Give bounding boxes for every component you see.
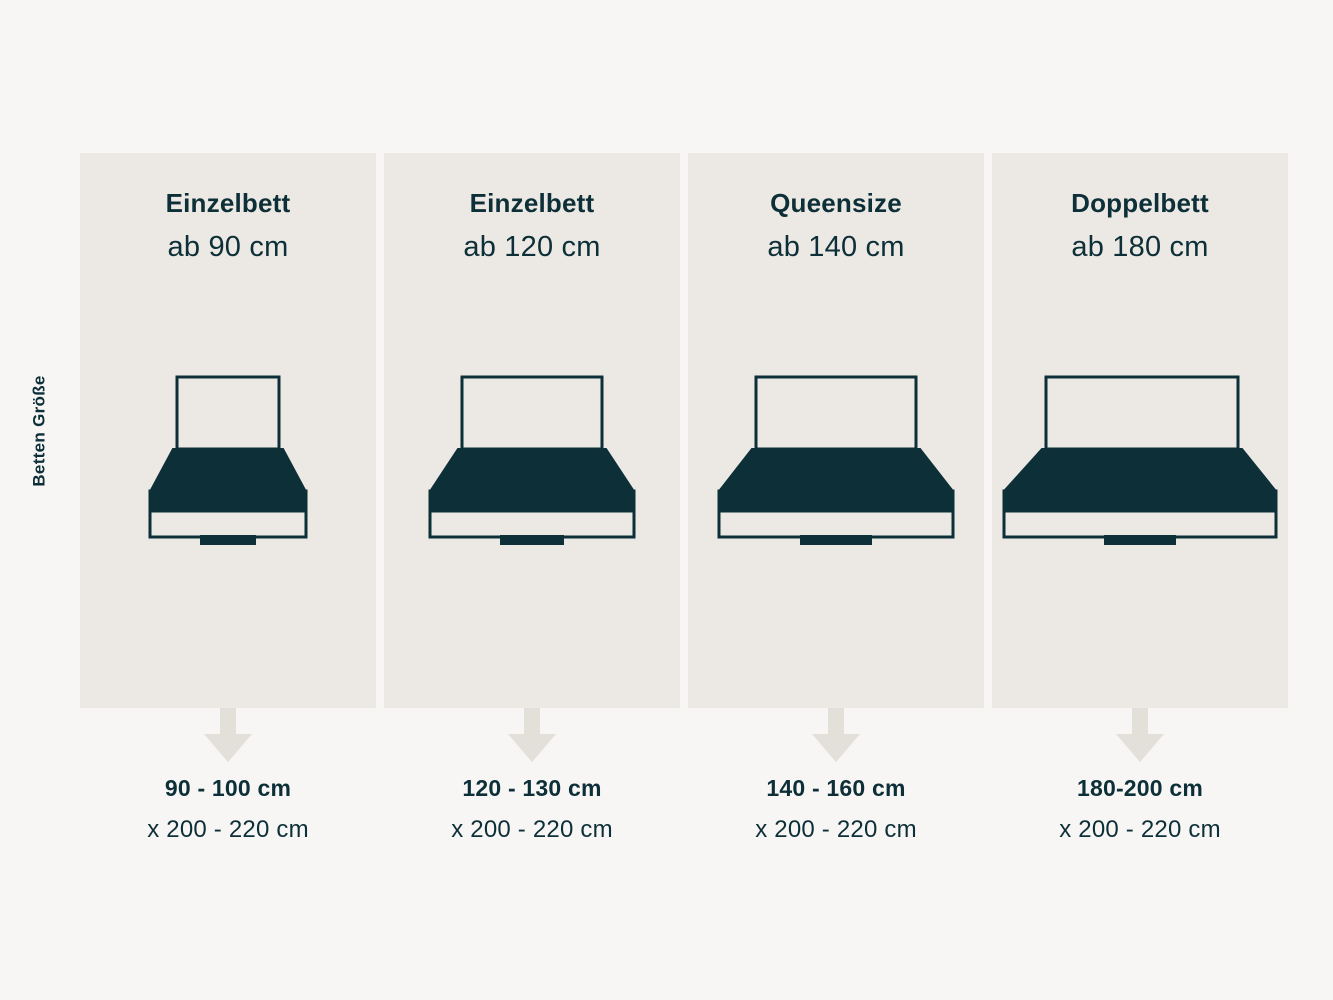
column-subtitle: ab 90 cm [80, 231, 376, 264]
bed-front-icon [717, 375, 955, 545]
dimension-width: 90 - 100 cm [80, 775, 376, 803]
dimension-length: x 200 - 220 cm [688, 816, 984, 845]
dimension-length: x 200 - 220 cm [80, 816, 376, 845]
arrow-row [80, 708, 1288, 764]
dimension-width: 180-200 cm [992, 775, 1288, 803]
bed-size-infographic: Betten Größe Einzelbett ab 90 cm E [0, 0, 1333, 1000]
dimension-label-row: 90 - 100 cm x 200 - 220 cm 120 - 130 cm … [80, 775, 1288, 865]
arrow-down-icon [1112, 708, 1168, 764]
bed-illustration-holder [384, 353, 680, 708]
bed-illustration-holder [80, 353, 376, 708]
column-title: Einzelbett [80, 189, 376, 219]
column-title: Queensize [688, 189, 984, 219]
bed-illustration-holder [992, 353, 1288, 708]
bed-front-icon [428, 375, 636, 545]
column-title: Doppelbett [992, 189, 1288, 219]
size-column-doppelbett-180: Doppelbett ab 180 cm [992, 153, 1288, 708]
bed-front-icon [148, 375, 308, 545]
dimension-length: x 200 - 220 cm [992, 816, 1288, 845]
bed-front-icon [1002, 375, 1278, 545]
size-column-queensize-140: Queensize ab 140 cm [688, 153, 984, 708]
y-axis-label: Betten Größe [30, 375, 50, 486]
size-column-einzelbett-120: Einzelbett ab 120 cm [384, 153, 680, 708]
column-title: Einzelbett [384, 189, 680, 219]
arrow-down-icon [504, 708, 560, 764]
dimension-label: 180-200 cm x 200 - 220 cm [992, 775, 1288, 865]
bed-illustration-holder [688, 353, 984, 708]
column-heading: Einzelbett ab 90 cm [80, 189, 376, 264]
axis-label-container: Betten Größe [0, 153, 80, 708]
dimension-width: 140 - 160 cm [688, 775, 984, 803]
size-column-einzelbett-90: Einzelbett ab 90 cm [80, 153, 376, 708]
column-subtitle: ab 140 cm [688, 231, 984, 264]
dimension-length: x 200 - 220 cm [384, 816, 680, 845]
dimension-label: 140 - 160 cm x 200 - 220 cm [688, 775, 984, 865]
column-heading: Doppelbett ab 180 cm [992, 189, 1288, 264]
column-subtitle: ab 180 cm [992, 231, 1288, 264]
dimension-label: 90 - 100 cm x 200 - 220 cm [80, 775, 376, 865]
arrow-cell [80, 708, 376, 764]
arrow-down-icon [808, 708, 864, 764]
arrow-cell [992, 708, 1288, 764]
arrow-cell [384, 708, 680, 764]
column-subtitle: ab 120 cm [384, 231, 680, 264]
column-heading: Einzelbett ab 120 cm [384, 189, 680, 264]
size-columns: Einzelbett ab 90 cm Einzelbett ab 120 cm [80, 153, 1288, 708]
arrow-cell [688, 708, 984, 764]
arrow-down-icon [200, 708, 256, 764]
column-heading: Queensize ab 140 cm [688, 189, 984, 264]
dimension-label: 120 - 130 cm x 200 - 220 cm [384, 775, 680, 865]
dimension-width: 120 - 130 cm [384, 775, 680, 803]
